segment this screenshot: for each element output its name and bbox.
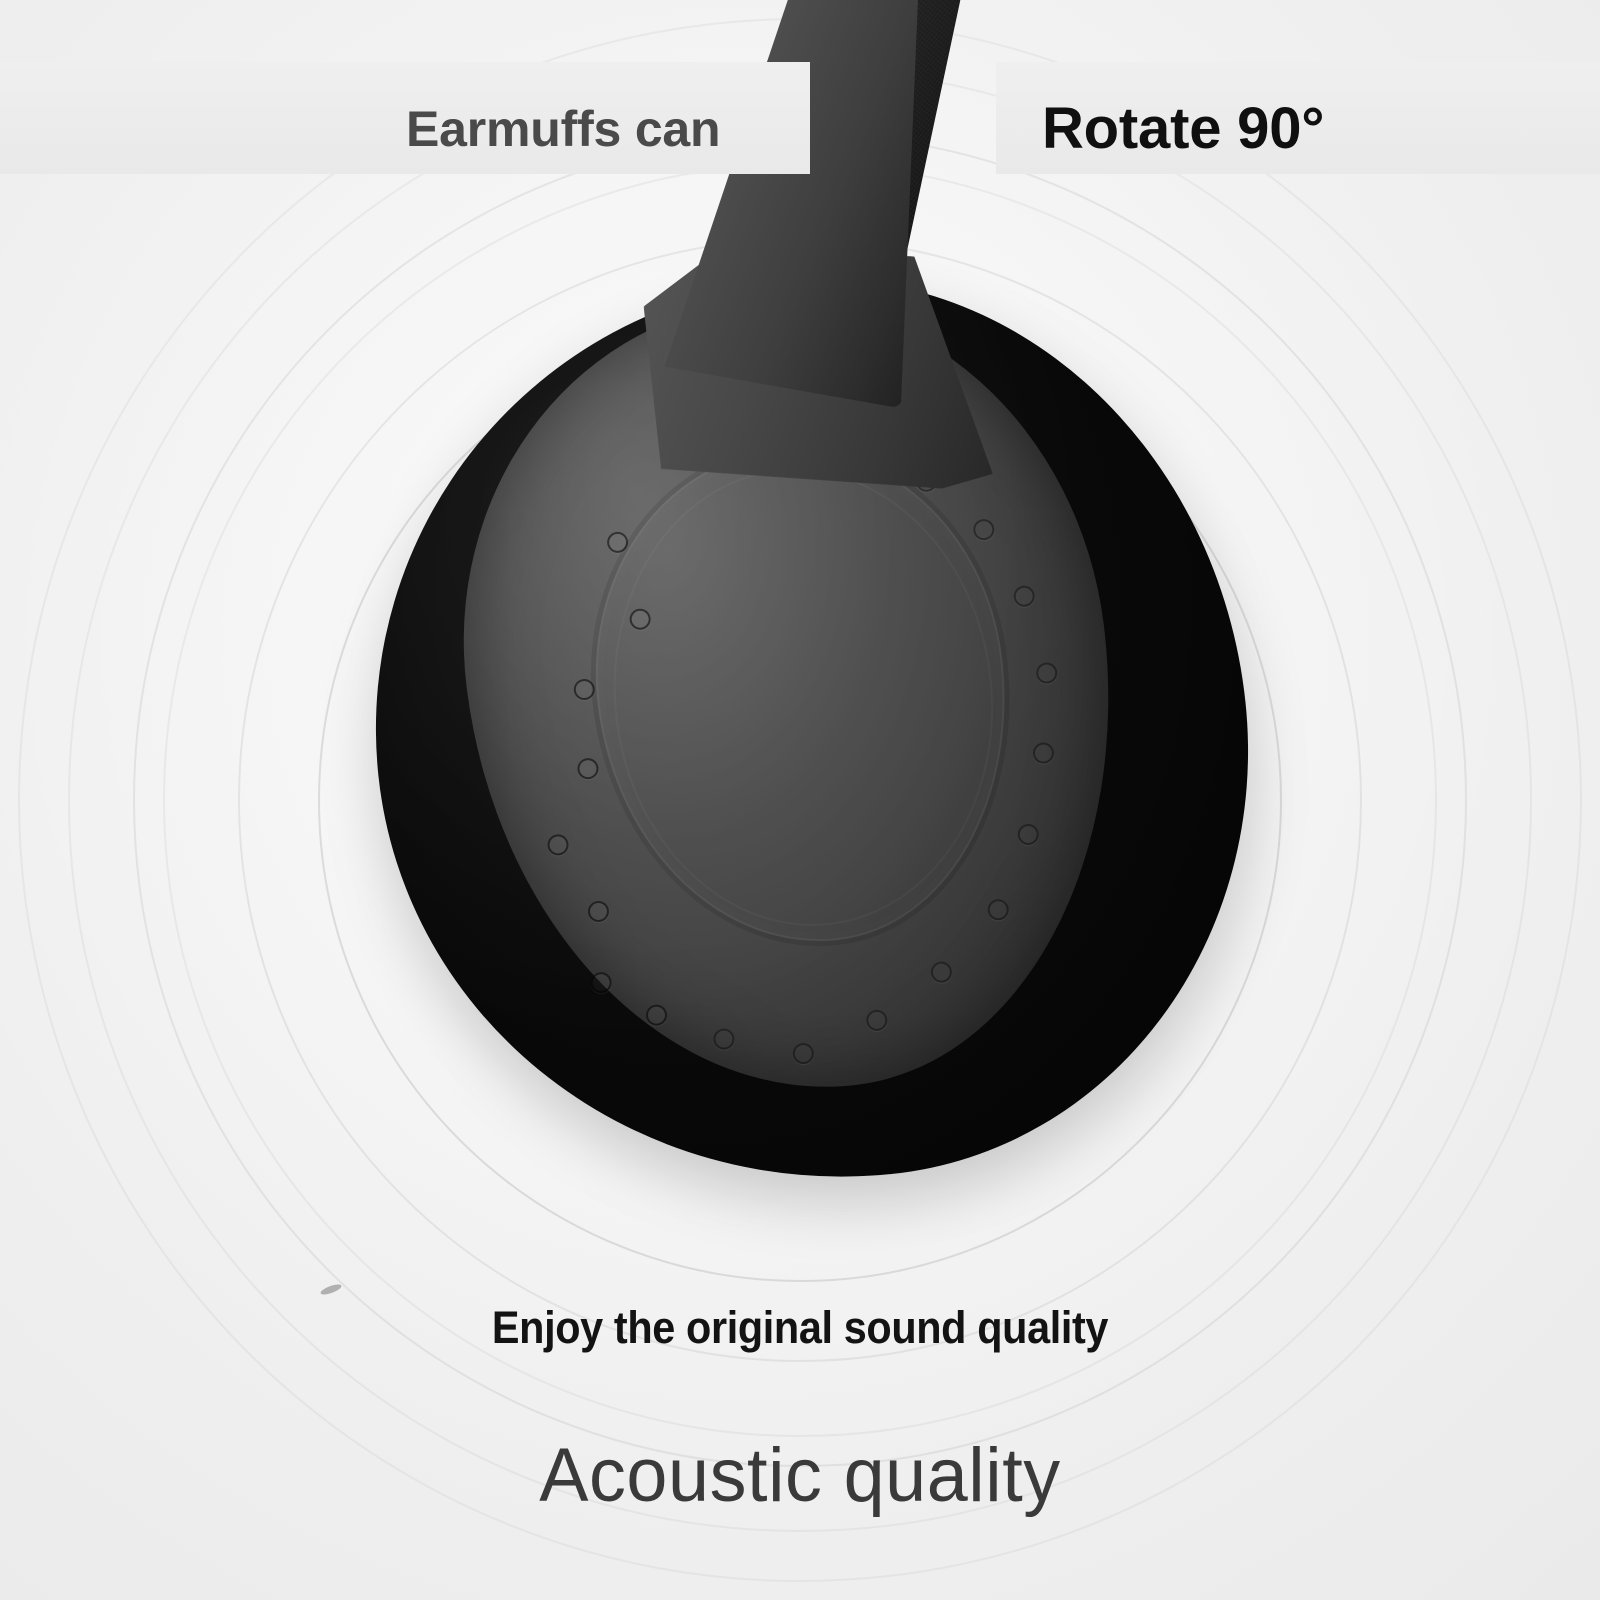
header-text-left: Earmuffs can xyxy=(406,100,720,158)
subtitle-caption: Enjoy the original sound quality xyxy=(64,1302,1536,1354)
header-text-right: Rotate 90° xyxy=(1042,95,1324,162)
headphone-illustration xyxy=(0,0,1600,1600)
headline-caption: Acoustic quality xyxy=(24,1432,1576,1519)
product-banner: Earmuffs can Rotate 90° Enjoy the origin… xyxy=(0,0,1600,1600)
